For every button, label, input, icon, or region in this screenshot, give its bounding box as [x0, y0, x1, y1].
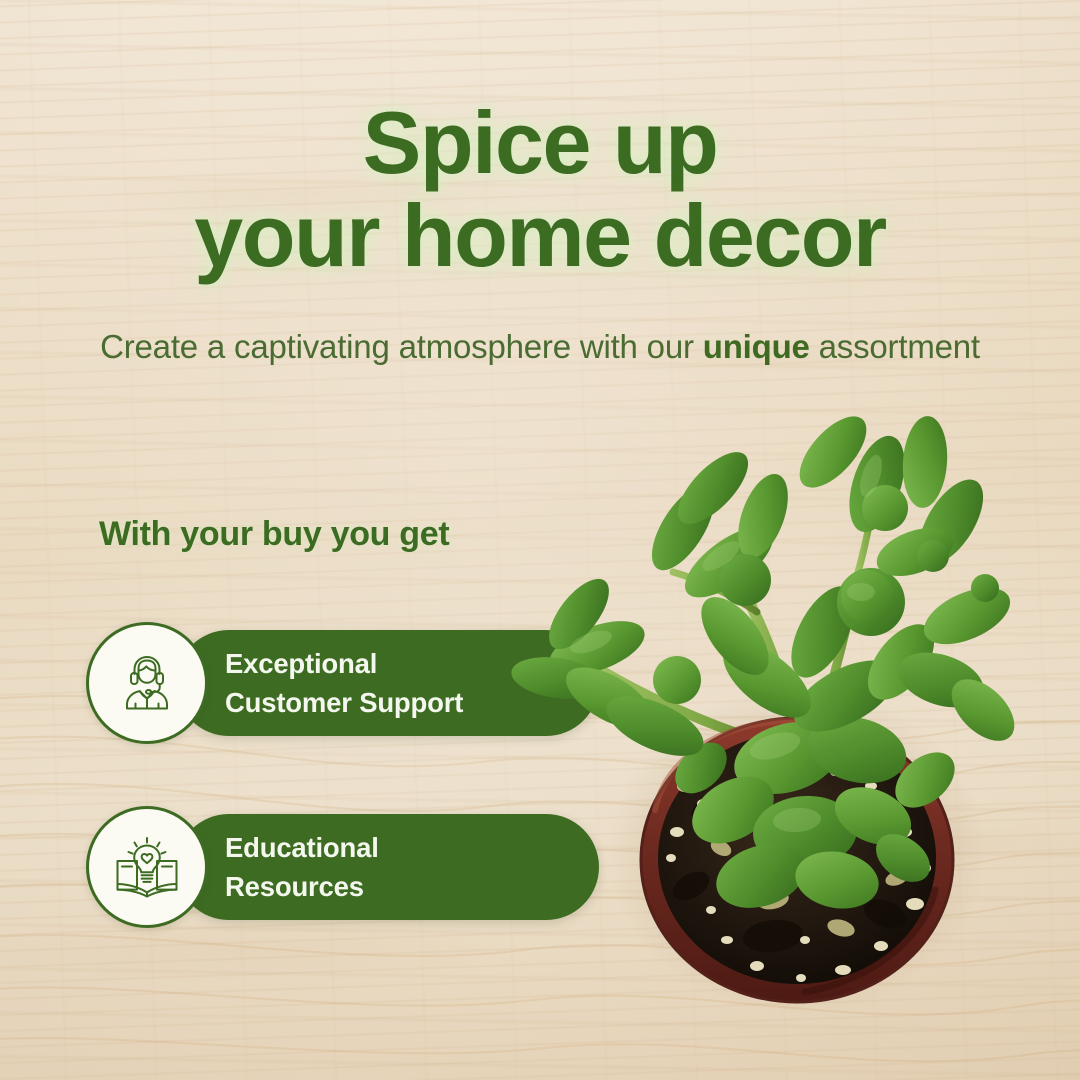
- subtitle-prefix: Create a captivating atmosphere with our: [100, 328, 703, 365]
- subtitle-emphasis: unique: [703, 328, 810, 365]
- benefit-icon-circle: [86, 622, 208, 744]
- page-subtitle: Create a captivating atmosphere with our…: [0, 327, 1080, 367]
- subtitle-suffix: assortment: [810, 328, 980, 365]
- page-title: Spice up your home decor: [0, 96, 1080, 283]
- lightbulb-open-book-icon: [109, 829, 185, 905]
- product-image-potted-plant: [505, 380, 1080, 1030]
- benefits-heading: With your buy you get: [99, 515, 449, 554]
- potted-jade-succulent-illustration: [505, 380, 1080, 1030]
- benefit-icon-circle: [86, 806, 208, 928]
- poster-canvas: Spice up your home decor Create a captiv…: [0, 0, 1080, 1080]
- headset-support-agent-icon: [110, 646, 184, 720]
